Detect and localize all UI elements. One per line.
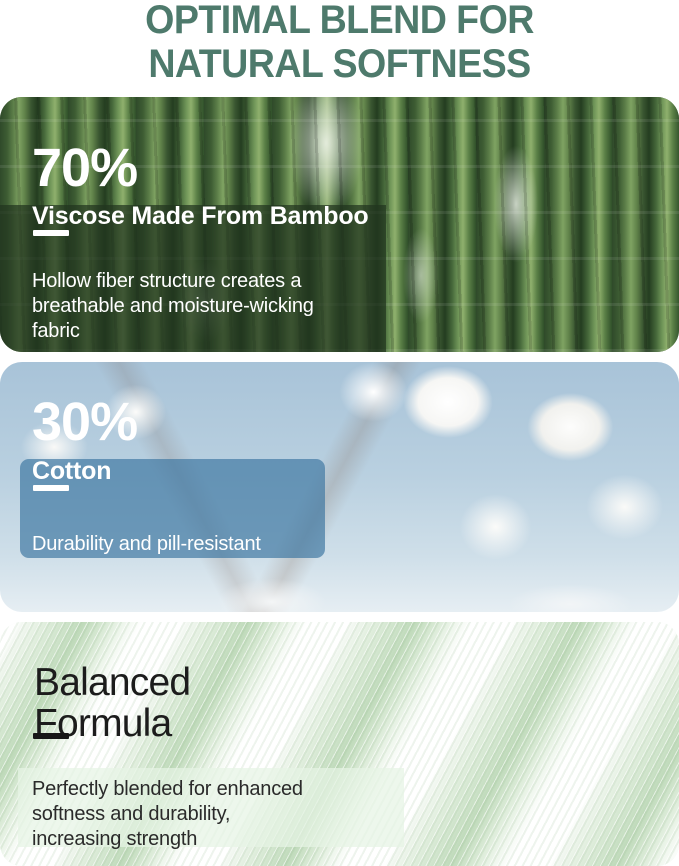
- material-name-bamboo: Viscose Made From Bamboo: [32, 202, 369, 230]
- description-cotton: Durability and pill-resistant: [32, 532, 332, 557]
- description-formula-line-3: increasing strength: [32, 827, 392, 852]
- description-bamboo-line-3: fabric: [32, 319, 382, 344]
- percentage-value-bamboo: 70%: [32, 141, 137, 195]
- formula-title-line-1: Balanced: [34, 662, 190, 703]
- divider-dash-formula: [33, 733, 69, 739]
- description-formula-line-2: softness and durability,: [32, 802, 392, 827]
- divider-dash-bamboo: [33, 230, 69, 236]
- panel-bamboo-viscose: 70% Viscose Made From Bamboo Hollow fibe…: [0, 97, 679, 352]
- infographic-page: OPTIMAL BLEND FOR NATURAL SOFTNESS 70% V…: [0, 0, 679, 866]
- description-cotton-line-1: Durability and pill-resistant: [32, 532, 332, 557]
- divider-dash-cotton: [33, 485, 69, 491]
- panel-bamboo-content: 70% Viscose Made From Bamboo Hollow fibe…: [0, 97, 679, 352]
- percentage-value-cotton: 30%: [32, 395, 137, 449]
- description-formula-line-1: Perfectly blended for enhanced: [32, 777, 392, 802]
- panel-cotton-content: 30% Cotton Durability and pill-resistant: [0, 362, 679, 612]
- description-bamboo-line-2: breathable and moisture-wicking: [32, 294, 382, 319]
- panel-formula-content: Balanced Formula Perfectly blended for e…: [0, 622, 679, 866]
- page-title: OPTIMAL BLEND FOR NATURAL SOFTNESS: [20, 0, 658, 86]
- panel-balanced-formula: Balanced Formula Perfectly blended for e…: [0, 622, 679, 866]
- description-bamboo: Hollow fiber structure creates a breatha…: [32, 269, 382, 344]
- description-bamboo-line-1: Hollow fiber structure creates a: [32, 269, 382, 294]
- description-formula: Perfectly blended for enhanced softness …: [32, 777, 392, 852]
- page-title-line-2: NATURAL SOFTNESS: [20, 42, 658, 86]
- formula-title: Balanced Formula: [34, 662, 190, 744]
- page-title-line-1: OPTIMAL BLEND FOR: [20, 0, 658, 42]
- panel-cotton: 30% Cotton Durability and pill-resistant: [0, 362, 679, 612]
- material-name-cotton: Cotton: [32, 457, 111, 485]
